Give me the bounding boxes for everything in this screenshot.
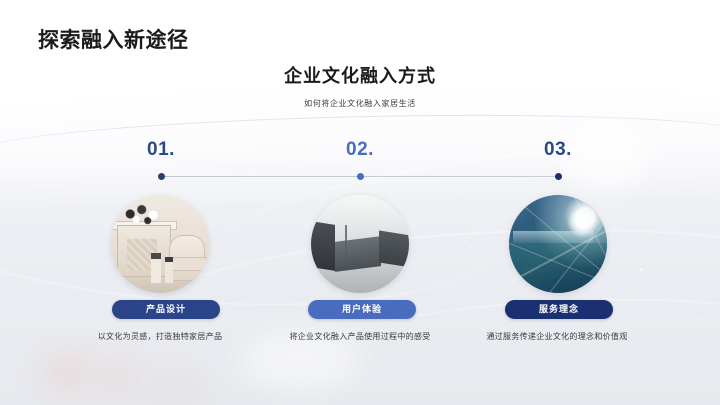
- timeline-dot-1: [158, 173, 165, 180]
- column-1: 01.: [66, 140, 256, 159]
- presentation-slide: 探索融入新途径 企业文化融入方式 如何将企业文化融入家居生活 01. 产品设计 …: [0, 0, 720, 405]
- modern-gray-architecture-photo[interactable]: [311, 195, 409, 293]
- description-3: 通过服务传递企业文化的理念和价值观: [482, 330, 632, 343]
- photo2-building-middle: [335, 236, 381, 272]
- column-2: 02.: [265, 140, 455, 159]
- photo-art-1: [111, 195, 209, 293]
- photo3-lens-flare: [567, 207, 597, 237]
- photo-art-2: [311, 195, 409, 293]
- label-pill-3[interactable]: 服务理念: [505, 300, 613, 319]
- step-number-2: 02.: [265, 140, 455, 159]
- photo1-decoration: [121, 203, 167, 225]
- blue-abstract-tech-bridge-photo[interactable]: [509, 195, 607, 293]
- page-subtitle: 如何将企业文化融入家居生活: [0, 98, 720, 109]
- description-1: 以文化为灵感，打造独特家居产品: [85, 330, 235, 343]
- column-3: 03.: [463, 140, 653, 159]
- photo2-pole: [345, 225, 347, 259]
- photo1-vase-b: [165, 257, 173, 283]
- page-title: 企业文化融入方式: [0, 62, 720, 88]
- photo2-building-left: [311, 221, 335, 271]
- photo2-building-right: [379, 230, 409, 267]
- step-number-3: 03.: [463, 140, 653, 159]
- description-2: 将企业文化融入产品使用过程中的感受: [285, 330, 435, 343]
- photo1-armchair-seat: [167, 257, 207, 271]
- classical-interior-fireplace-photo[interactable]: [111, 195, 209, 293]
- label-pill-1[interactable]: 产品设计: [112, 300, 220, 319]
- slide-kicker: 探索融入新途径: [38, 24, 189, 54]
- step-number-1: 01.: [66, 140, 256, 159]
- label-pill-2[interactable]: 用户体验: [308, 300, 416, 319]
- timeline-dot-3: [555, 173, 562, 180]
- photo1-vase-a: [151, 253, 161, 283]
- photo-art-3: [509, 195, 607, 293]
- timeline-dot-2: [357, 173, 364, 180]
